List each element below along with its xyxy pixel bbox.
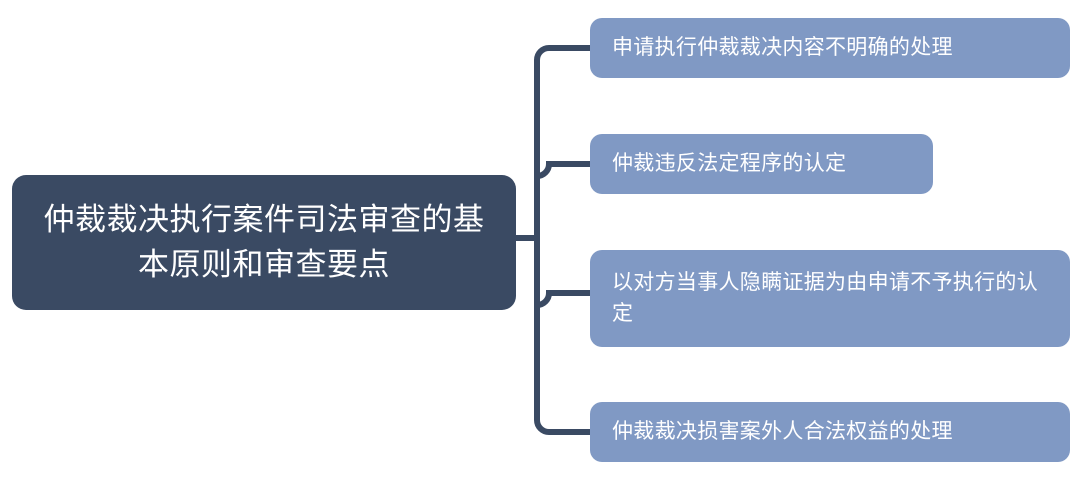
connector-branch-4 (537, 420, 590, 432)
branch-node-1[interactable]: 申请执行仲裁裁决内容不明确的处理 (590, 18, 1070, 78)
mindmap-canvas: 仲裁裁决执行案件司法审查的基本原则和审查要点 申请执行仲裁裁决内容不明确的处理 … (0, 0, 1080, 479)
branch-node-2[interactable]: 仲裁违反法定程序的认定 (590, 134, 933, 194)
branch-node-3-label: 以对方当事人隐瞒证据为由申请不予执行的认定 (612, 268, 1048, 329)
branch-node-4-label: 仲裁裁决损害案外人合法权益的处理 (612, 417, 953, 447)
branch-node-1-label: 申请执行仲裁裁决内容不明确的处理 (612, 33, 953, 63)
connector-branch-2 (537, 164, 590, 176)
branch-node-4[interactable]: 仲裁裁决损害案外人合法权益的处理 (590, 402, 1070, 462)
root-node-label: 仲裁裁决执行案件司法审查的基本原则和审查要点 (36, 198, 492, 286)
connector-branch-3 (537, 293, 590, 305)
branch-node-2-label: 仲裁违反法定程序的认定 (612, 149, 846, 179)
branch-node-3[interactable]: 以对方当事人隐瞒证据为由申请不予执行的认定 (590, 250, 1070, 347)
root-node[interactable]: 仲裁裁决执行案件司法审查的基本原则和审查要点 (12, 175, 516, 310)
connector-branch-1 (537, 48, 590, 60)
